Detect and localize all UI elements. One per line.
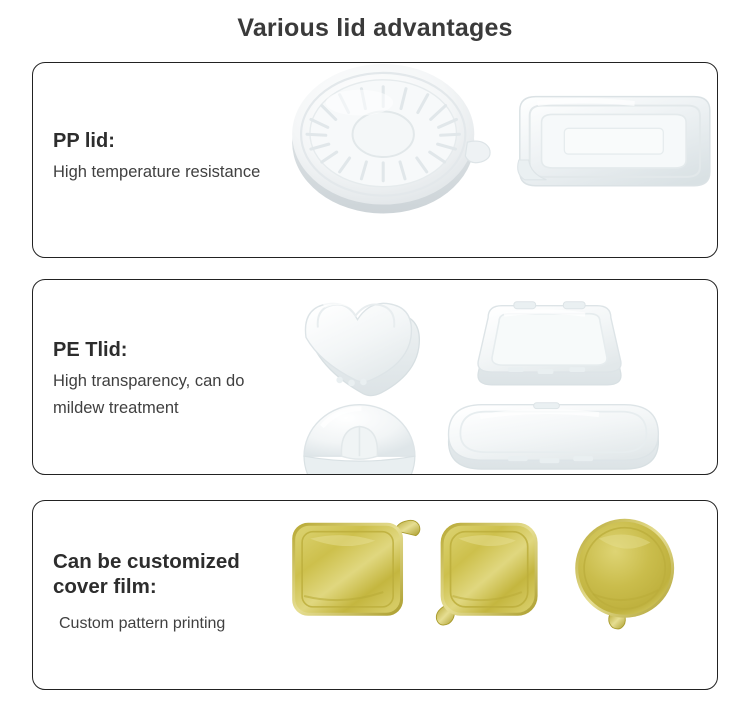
advantage-card-cover-film: Can be customized cover film: Custom pat… <box>32 500 718 690</box>
card-heading: Can be customized cover film: <box>53 549 240 599</box>
product-image-group-pp <box>283 63 717 257</box>
rectangular-pp-lid-image <box>518 97 710 186</box>
card-text-block: PE Tlid: High transparency, can do milde… <box>53 338 244 422</box>
product-image-group-cover-film <box>283 501 717 689</box>
round-pp-lid-image <box>292 64 490 213</box>
advantage-card-pe-lid: PE Tlid: High transparency, can do milde… <box>32 279 718 475</box>
card-description: Custom pattern printing <box>53 611 240 637</box>
advantage-card-list: PP lid: High temperature resistance <box>32 62 718 690</box>
advantage-card-pp-lid: PP lid: High temperature resistance <box>32 62 718 258</box>
oval-clear-lid-image <box>449 403 659 469</box>
card-description: High temperature resistance <box>53 159 260 186</box>
round-gold-cover-film-image <box>575 519 674 629</box>
card-heading: PE Tlid: <box>53 338 244 362</box>
card-text-block: Can be customized cover film: Custom pat… <box>53 549 240 637</box>
page-title: Various lid advantages <box>0 0 750 46</box>
square-gold-cover-film-image <box>436 523 537 625</box>
card-text-block: PP lid: High temperature resistance <box>53 129 260 186</box>
rectangular-gold-cover-film-image <box>292 520 420 615</box>
card-heading: PP lid: <box>53 129 260 153</box>
heart-shaped-clear-lid-image <box>305 303 419 396</box>
product-image-group-pe <box>283 280 717 474</box>
card-description: High transparency, can do mildew treatme… <box>53 368 244 421</box>
square-clear-dome-lid-image <box>478 302 621 385</box>
round-clear-dome-lid-image <box>304 405 415 474</box>
